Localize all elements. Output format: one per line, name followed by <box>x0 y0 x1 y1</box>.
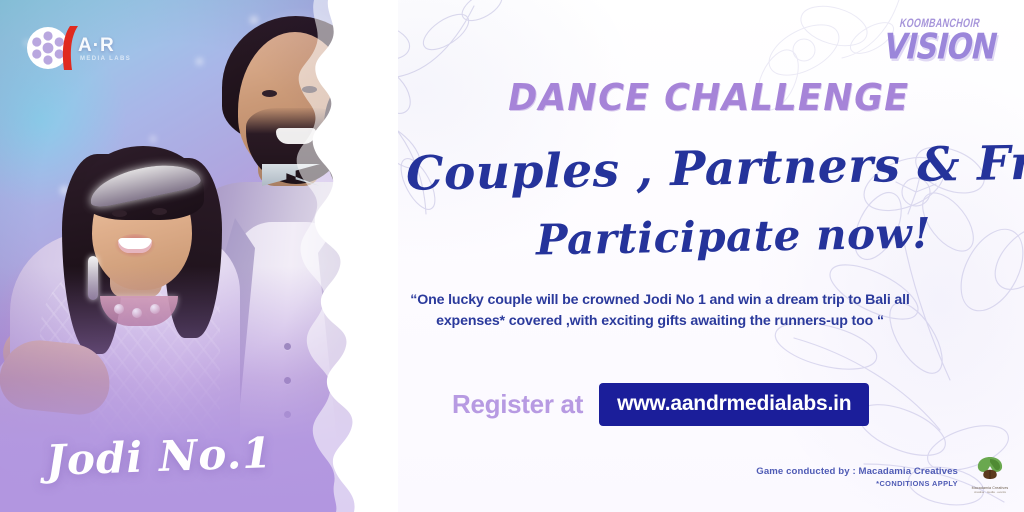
macadamia-logo-tagline: creative · media · events <box>964 490 1016 494</box>
register-row: Register at www.aandrmedialabs.in <box>452 383 869 426</box>
macadamia-creatives-logo: Macadamia Creatives creative · media · e… <box>964 454 1016 494</box>
vision-logo-main-text: VISION <box>878 30 1002 65</box>
macadamia-tree-icon <box>967 454 1013 480</box>
headline-dance-challenge: DANCE CHALLENGE <box>504 76 913 119</box>
ar-logo-subtitle: MEDIA LABS <box>80 56 131 62</box>
prize-description-text: “One lucky couple will be crowned Jodi N… <box>406 290 914 332</box>
footer-conducted-by: Game conducted by : Macadamia Creatives <box>756 466 958 477</box>
floral-watermark-top-right <box>704 0 904 140</box>
ar-logo-initials: A·R <box>78 35 115 57</box>
ar-media-labs-logo: A·R MEDIA LABS <box>26 24 136 72</box>
koombanchoir-vision-logo: KOOMBANCHOIR VISION <box>882 18 998 74</box>
registration-url-button[interactable]: www.aandrmedialabs.in <box>599 383 869 426</box>
jodi-no-1-caption: Jodi No.1 <box>45 428 273 485</box>
footer-credits: Game conducted by : Macadamia Creatives … <box>756 466 958 488</box>
torn-paper-edge <box>268 0 398 512</box>
script-participate-now: Participate now! <box>536 209 932 265</box>
register-label: Register at <box>452 389 583 420</box>
poster-canvas: A·R MEDIA LABS KOOMBANCHOIR VISION DANCE… <box>0 0 1024 512</box>
footer-conditions-apply: *CONDITIONS APPLY <box>756 479 958 488</box>
